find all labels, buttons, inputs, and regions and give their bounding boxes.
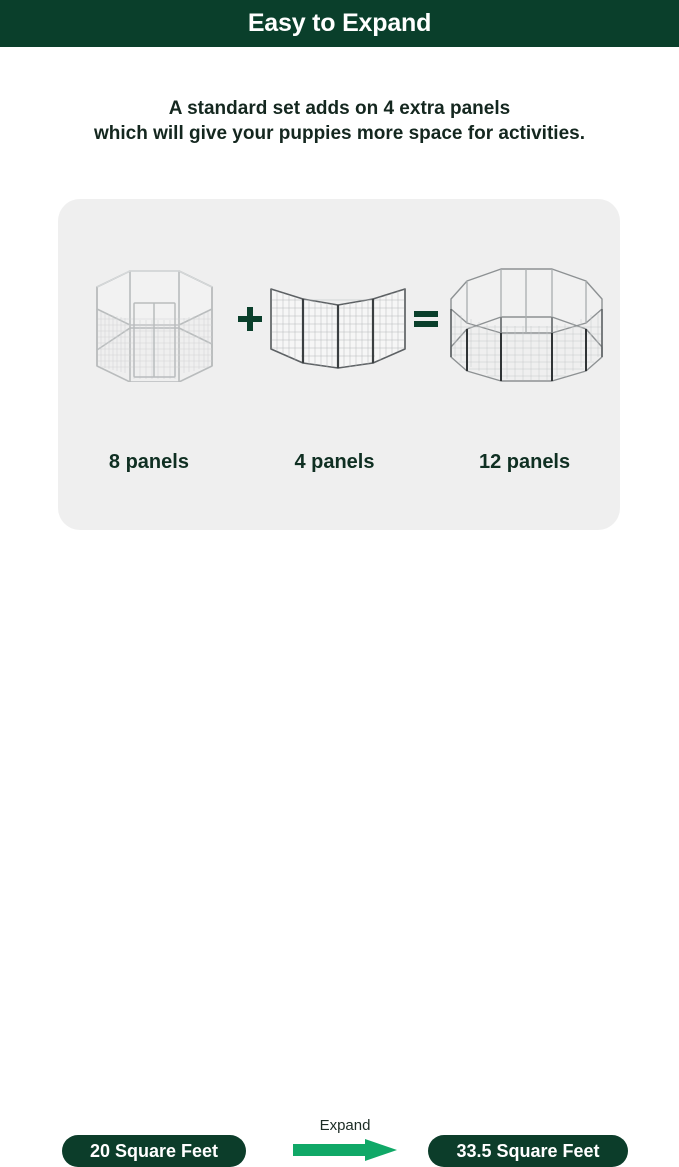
diagram-row	[58, 199, 620, 439]
octagon-playpen-icon	[72, 257, 237, 382]
expand-indicator: Expand	[287, 1117, 403, 1167]
page-title: Easy to Expand	[248, 11, 431, 36]
caption-row: 8 panels 4 panels 12 panels	[58, 439, 620, 485]
caption-8-panels: 8 panels	[72, 451, 226, 474]
subtitle-line-1: A standard set adds on 4 extra panels	[0, 96, 679, 121]
operator-plus	[237, 219, 263, 419]
dodecagon-playpen-icon	[439, 257, 614, 382]
caption-4-panels: 4 panels	[262, 451, 407, 474]
playpen-12-panels	[439, 219, 614, 419]
subtitle-block: A standard set adds on 4 extra panels wh…	[0, 96, 679, 146]
expand-label: Expand	[320, 1117, 371, 1135]
comparison-card: 8 panels 4 panels 12 panels	[58, 199, 620, 530]
playpen-4-panels	[263, 219, 413, 419]
playpen-8-panels	[72, 219, 237, 419]
operator-equals	[413, 219, 439, 419]
area-before-badge: 20 Square Feet	[62, 1135, 246, 1167]
caption-12-panels: 12 panels	[443, 451, 606, 474]
header-banner: Easy to Expand	[0, 0, 679, 47]
equals-icon	[413, 309, 439, 329]
area-after-badge: 33.5 Square Feet	[428, 1135, 628, 1167]
fan-playpen-icon	[263, 267, 413, 372]
plus-icon	[237, 306, 263, 332]
footer-area-comparison: 20 Square Feet Expand 33.5 Square Feet	[0, 555, 679, 616]
arrow-right-icon	[293, 1139, 397, 1161]
subtitle-line-2: which will give your puppies more space …	[0, 121, 679, 146]
